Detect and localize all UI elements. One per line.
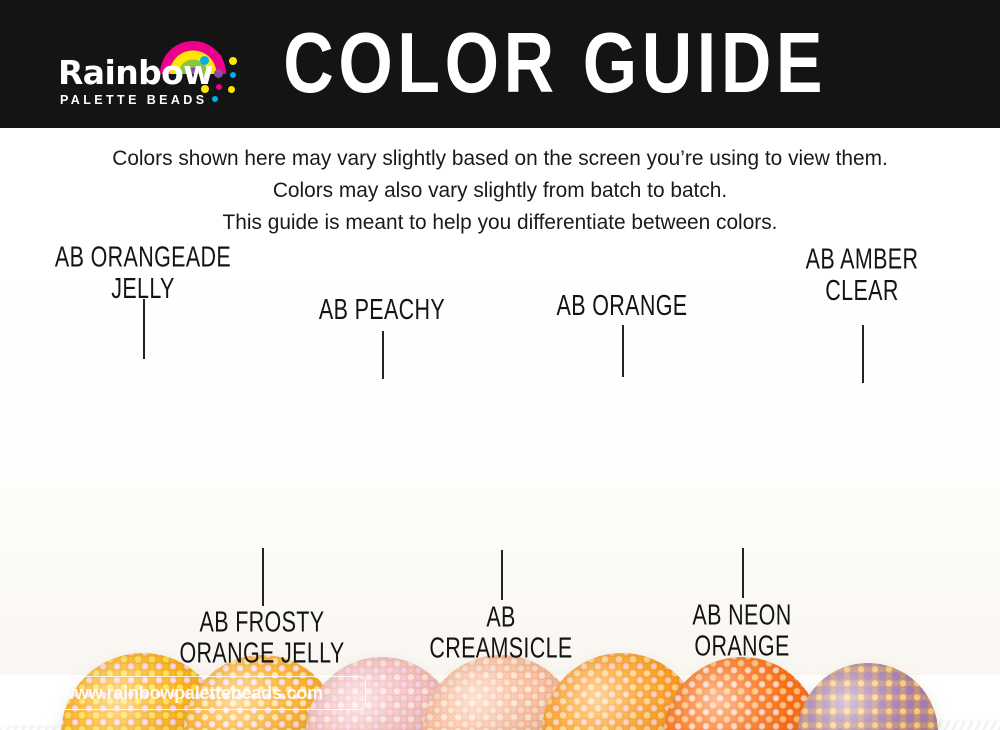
- bead-color-label: AB PEACHY: [287, 295, 476, 326]
- label-leader-line: [862, 325, 864, 383]
- bead-swatch: [798, 663, 938, 730]
- bead-color-label: AB CREAMSICLE: [406, 602, 595, 665]
- color-guide-page: Rainbow PALETTE BEADS COLOR GUIDE Colors…: [0, 0, 1000, 730]
- label-leader-line: [262, 548, 264, 606]
- label-leader-line: [742, 548, 744, 598]
- intro-line-1: Colors shown here may vary slightly base…: [15, 142, 985, 174]
- label-leader-line: [382, 331, 384, 379]
- page-title: COLOR GUIDE: [40, 8, 960, 120]
- label-leader-line: [622, 325, 624, 377]
- bead-swatch-stage: AB ORANGEADE JELLYAB FROSTY ORANGE JELLY…: [0, 255, 1000, 675]
- intro-line-2: Colors may also vary slightly from batch…: [15, 174, 985, 206]
- bead-color-label: AB ORANGEADE JELLY: [40, 242, 246, 305]
- bead-color-label: AB AMBER CLEAR: [767, 244, 956, 307]
- bead-color-label: AB FROSTY ORANGE JELLY: [159, 607, 365, 670]
- bead-color-label: AB ORANGE: [527, 291, 716, 322]
- bead-color-label: AB NEON ORANGE: [647, 600, 836, 663]
- page-header: Rainbow PALETTE BEADS COLOR GUIDE: [0, 0, 1000, 128]
- bead-swatch: [664, 657, 820, 730]
- label-leader-line: [501, 550, 503, 600]
- watermark-url: www.rainbowpalettebeads.com: [61, 683, 323, 704]
- intro-text: Colors shown here may vary slightly base…: [15, 142, 985, 238]
- watermark: www.rainbowpalettebeads.com: [18, 676, 366, 710]
- label-leader-line: [143, 299, 145, 359]
- intro-line-3: This guide is meant to help you differen…: [15, 206, 985, 238]
